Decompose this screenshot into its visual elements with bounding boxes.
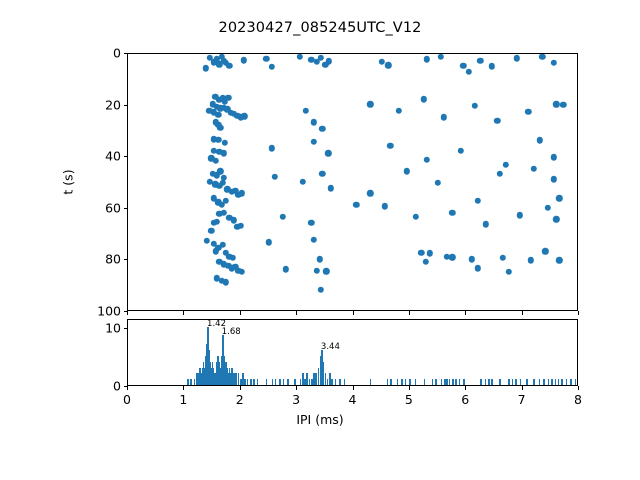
histogram-bar	[344, 379, 346, 385]
scatter-point	[353, 202, 359, 208]
scatter-point	[222, 140, 228, 146]
x-tick-top	[353, 311, 354, 315]
scatter-point	[553, 216, 559, 222]
histogram-bar	[339, 379, 341, 385]
histogram-bar	[435, 379, 437, 385]
scatter-point	[424, 157, 430, 163]
histogram-bar	[409, 379, 411, 385]
scatter-point	[460, 62, 466, 68]
scatter-point	[302, 108, 308, 114]
scatter-point	[469, 256, 475, 262]
histogram-bar	[279, 379, 281, 385]
histogram-bar	[561, 379, 563, 385]
scatter-point	[500, 255, 506, 261]
scatter-point	[378, 59, 384, 65]
scatter-point	[395, 108, 401, 114]
scatter-point	[241, 113, 247, 119]
y-tick-label-top: 80	[69, 252, 121, 267]
scatter-point	[472, 102, 478, 108]
scatter-point	[269, 64, 275, 70]
scatter-point	[311, 237, 317, 243]
histogram-bar	[455, 379, 457, 385]
scatter-point	[316, 256, 322, 262]
histogram-bar	[272, 379, 274, 385]
histogram-axes-frame	[127, 319, 578, 386]
scatter-point	[269, 145, 275, 151]
y-tick-top	[124, 259, 128, 260]
y-tick-label-top: 0	[69, 46, 121, 61]
scatter-point	[220, 180, 226, 186]
scatter-point	[238, 222, 244, 228]
histogram-bar	[508, 379, 510, 385]
histogram-bar	[247, 379, 249, 385]
scatter-point	[225, 95, 231, 101]
histogram-bar	[555, 379, 557, 385]
x-tick-top	[183, 311, 184, 315]
y-tick-label-top: 60	[69, 200, 121, 215]
scatter-point	[231, 217, 237, 223]
scatter-point	[215, 111, 221, 117]
histogram-bar	[548, 379, 550, 385]
scatter-point	[203, 65, 209, 71]
x-tick-top	[127, 311, 128, 315]
scatter-point	[223, 198, 229, 204]
histogram-bar	[390, 379, 392, 385]
x-tick-bottom	[183, 386, 184, 390]
histogram-bar	[570, 379, 572, 385]
histogram-bar	[253, 379, 255, 385]
histogram-bar	[449, 379, 451, 385]
scatter-point	[404, 168, 410, 174]
scatter-point	[556, 257, 562, 263]
y-tick-label-bottom: 0	[69, 379, 121, 394]
x-tick-bottom	[353, 386, 354, 390]
scatter-point	[297, 54, 303, 60]
y-tick-top	[124, 208, 128, 209]
x-axis-label-bottom: IPI (ms)	[0, 412, 640, 427]
x-tick-bottom	[240, 386, 241, 390]
scatter-point	[263, 55, 269, 61]
histogram-bar	[520, 379, 522, 385]
scatter-point	[220, 242, 226, 248]
scatter-point	[387, 142, 393, 148]
histogram-bar	[515, 379, 517, 385]
histogram-bar	[331, 379, 333, 385]
y-tick-top	[124, 53, 128, 54]
histogram-bar	[370, 379, 372, 385]
y-tick-top	[124, 156, 128, 157]
scatter-point	[213, 158, 219, 164]
scatter-point	[300, 179, 306, 185]
x-tick-top	[465, 311, 466, 315]
scatter-point	[283, 266, 289, 272]
scatter-point	[449, 209, 455, 215]
x-tick-top	[522, 311, 523, 315]
histogram-bar	[397, 379, 399, 385]
y-tick-label-top: 100	[69, 304, 121, 319]
histogram-bar	[190, 379, 192, 385]
scatter-point	[412, 213, 418, 219]
histogram-bar	[539, 379, 541, 385]
scatter-point	[308, 220, 314, 226]
histogram-bar	[480, 379, 482, 385]
scatter-point	[319, 126, 325, 132]
histogram-bar	[424, 379, 426, 385]
x-tick-bottom	[465, 386, 466, 390]
scatter-point	[440, 114, 446, 120]
histogram-bar	[488, 379, 490, 385]
scatter-point	[314, 268, 320, 274]
histogram-bars-layer	[128, 320, 577, 385]
peak-annotation-label: 1.68	[222, 327, 241, 337]
y-axis-label-top: t (s)	[61, 169, 76, 194]
scatter-point	[221, 150, 227, 156]
histogram-bar	[575, 379, 577, 385]
histogram-bar	[459, 379, 461, 385]
histogram-bar	[566, 379, 568, 385]
figure-canvas: 20230427_085245UTC_V12 02040608010001001…	[0, 0, 640, 480]
histogram-bar	[463, 379, 465, 385]
histogram-bar	[257, 379, 259, 385]
histogram-bar	[415, 379, 417, 385]
scatter-point	[318, 287, 324, 293]
scatter-point	[418, 249, 424, 255]
histogram-bar	[275, 379, 277, 385]
y-tick-top	[124, 105, 128, 106]
x-tick-top	[409, 311, 410, 315]
scatter-point	[528, 257, 534, 263]
scatter-point	[381, 203, 387, 209]
histogram-bar	[491, 379, 493, 385]
scatter-point	[424, 56, 430, 62]
histogram-bar	[533, 379, 535, 385]
scatter-point	[240, 57, 246, 63]
scatter-point	[422, 258, 428, 264]
histogram-bar	[387, 379, 389, 385]
x-tick-label-bottom: 2	[236, 392, 244, 407]
histogram-bar	[512, 379, 514, 385]
scatter-point	[328, 185, 334, 191]
scatter-point	[239, 190, 245, 196]
scatter-point	[542, 248, 548, 254]
scatter-point	[319, 171, 325, 177]
scatter-point	[215, 136, 221, 142]
scatter-point	[426, 250, 432, 256]
y-tick-bottom	[124, 328, 128, 329]
scatter-point	[385, 62, 391, 68]
scatter-point	[421, 96, 427, 102]
x-tick-label-bottom: 0	[123, 392, 131, 407]
scatter-point	[438, 54, 444, 60]
histogram-bar	[283, 379, 285, 385]
scatter-point	[550, 154, 556, 160]
histogram-bar	[526, 379, 528, 385]
histogram-bar	[441, 379, 443, 385]
scatter-point	[488, 63, 494, 69]
histogram-bar	[452, 379, 454, 385]
scatter-points-layer	[128, 54, 577, 310]
scatter-axes-frame	[127, 53, 578, 311]
scatter-point	[494, 118, 500, 124]
x-tick-top	[296, 311, 297, 315]
scatter-point	[477, 58, 483, 64]
histogram-bar	[432, 379, 434, 385]
scatter-point	[466, 68, 472, 74]
scatter-point	[474, 198, 480, 204]
histogram-bar	[405, 379, 407, 385]
scatter-point	[230, 255, 236, 261]
scatter-point	[525, 109, 531, 115]
scatter-point	[497, 171, 503, 177]
x-tick-bottom	[127, 386, 128, 390]
scatter-point	[213, 248, 219, 254]
scatter-point	[311, 139, 317, 145]
scatter-point	[449, 254, 455, 260]
scatter-point	[560, 102, 566, 108]
histogram-bar	[401, 379, 403, 385]
x-tick-label-bottom: 4	[349, 392, 357, 407]
histogram-bar	[187, 379, 189, 385]
scatter-point	[367, 190, 373, 196]
scatter-point	[550, 60, 556, 66]
y-tick-label-top: 40	[69, 149, 121, 164]
histogram-bar	[266, 379, 268, 385]
scatter-point	[457, 148, 463, 154]
histogram-bar	[558, 379, 560, 385]
scatter-point	[239, 269, 245, 275]
x-tick-label-bottom: 1	[179, 392, 187, 407]
scatter-point	[531, 166, 537, 172]
scatter-point	[435, 180, 441, 186]
scatter-point	[556, 195, 562, 201]
scatter-point	[474, 265, 480, 271]
y-tick-label-bottom: 10	[69, 320, 121, 335]
x-tick-top	[240, 311, 241, 315]
scatter-point	[553, 101, 559, 107]
x-tick-bottom	[296, 386, 297, 390]
x-tick-label-bottom: 8	[574, 392, 582, 407]
peak-annotation-label: 3.44	[321, 342, 340, 352]
x-tick-bottom	[522, 386, 523, 390]
histogram-bar	[551, 379, 553, 385]
scatter-point	[505, 269, 511, 275]
scatter-point	[266, 239, 272, 245]
x-tick-top	[578, 311, 579, 315]
scatter-point	[217, 168, 223, 174]
scatter-point	[318, 54, 324, 60]
x-tick-label-bottom: 5	[405, 392, 413, 407]
scatter-point	[325, 58, 331, 64]
scatter-point	[271, 173, 277, 179]
histogram-bar	[543, 379, 545, 385]
scatter-point	[367, 101, 373, 107]
scatter-point	[223, 279, 229, 285]
x-tick-bottom	[409, 386, 410, 390]
scatter-point	[325, 150, 331, 156]
scatter-point	[280, 213, 286, 219]
scatter-point	[323, 268, 329, 274]
histogram-bar	[294, 379, 296, 385]
scatter-point	[214, 218, 220, 224]
x-tick-bottom	[578, 386, 579, 390]
scatter-point	[517, 212, 523, 218]
x-tick-label-bottom: 7	[518, 392, 526, 407]
histogram-bar	[250, 379, 252, 385]
scatter-point	[208, 228, 214, 234]
scatter-point	[483, 221, 489, 227]
figure-title: 20230427_085245UTC_V12	[0, 20, 640, 36]
y-tick-label-top: 20	[69, 97, 121, 112]
histogram-bar	[335, 379, 337, 385]
histogram-bar	[287, 379, 289, 385]
x-tick-label-bottom: 6	[461, 392, 469, 407]
scatter-point	[539, 54, 545, 60]
histogram-bar	[485, 379, 487, 385]
scatter-point	[217, 124, 223, 130]
scatter-point	[226, 63, 232, 69]
scatter-point	[545, 204, 551, 210]
scatter-point	[514, 55, 520, 61]
scatter-point	[503, 162, 509, 168]
x-tick-label-bottom: 3	[292, 392, 300, 407]
histogram-bar	[499, 379, 501, 385]
scatter-point	[550, 176, 556, 182]
scatter-point	[204, 238, 210, 244]
scatter-point	[536, 137, 542, 143]
scatter-point	[311, 119, 317, 125]
